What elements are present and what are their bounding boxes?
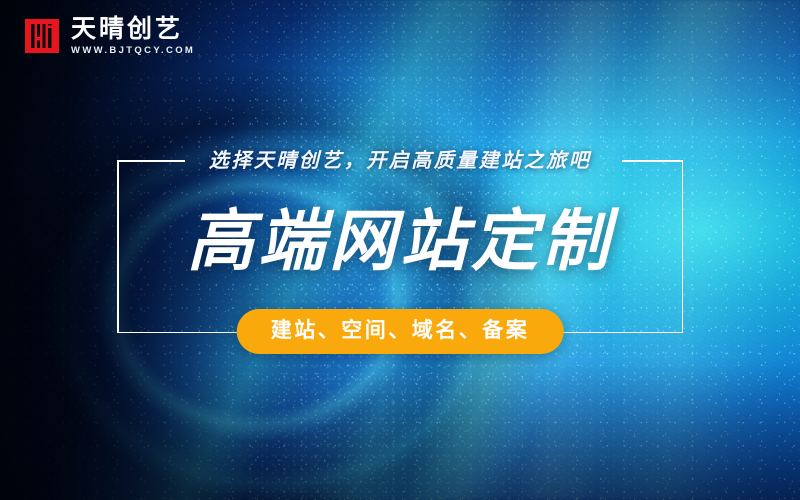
tianqing-square-mark-icon [25,19,59,53]
hero-frame: 选择天晴创艺，开启高质量建站之旅吧 高端网站定制 建站、空间、域名、备案 [117,160,683,333]
services-pill-label: 建站、空间、域名、备案 [271,318,530,342]
hero-subtitle: 选择天晴创艺，开启高质量建站之旅吧 [117,144,683,173]
brand-logo[interactable]: 天晴创艺 WWW.BJTQCY.COM [25,16,195,56]
brand-url: WWW.BJTQCY.COM [71,46,195,56]
promo-banner: 天晴创艺 WWW.BJTQCY.COM 选择天晴创艺，开启高质量建站之旅吧 高端… [0,0,800,500]
frame-bottom-edge-right [545,332,683,334]
services-pill-button[interactable]: 建站、空间、域名、备案 [237,309,564,354]
hero-headline: 高端网站定制 [117,208,683,275]
brand-name: 天晴创艺 [71,16,195,41]
